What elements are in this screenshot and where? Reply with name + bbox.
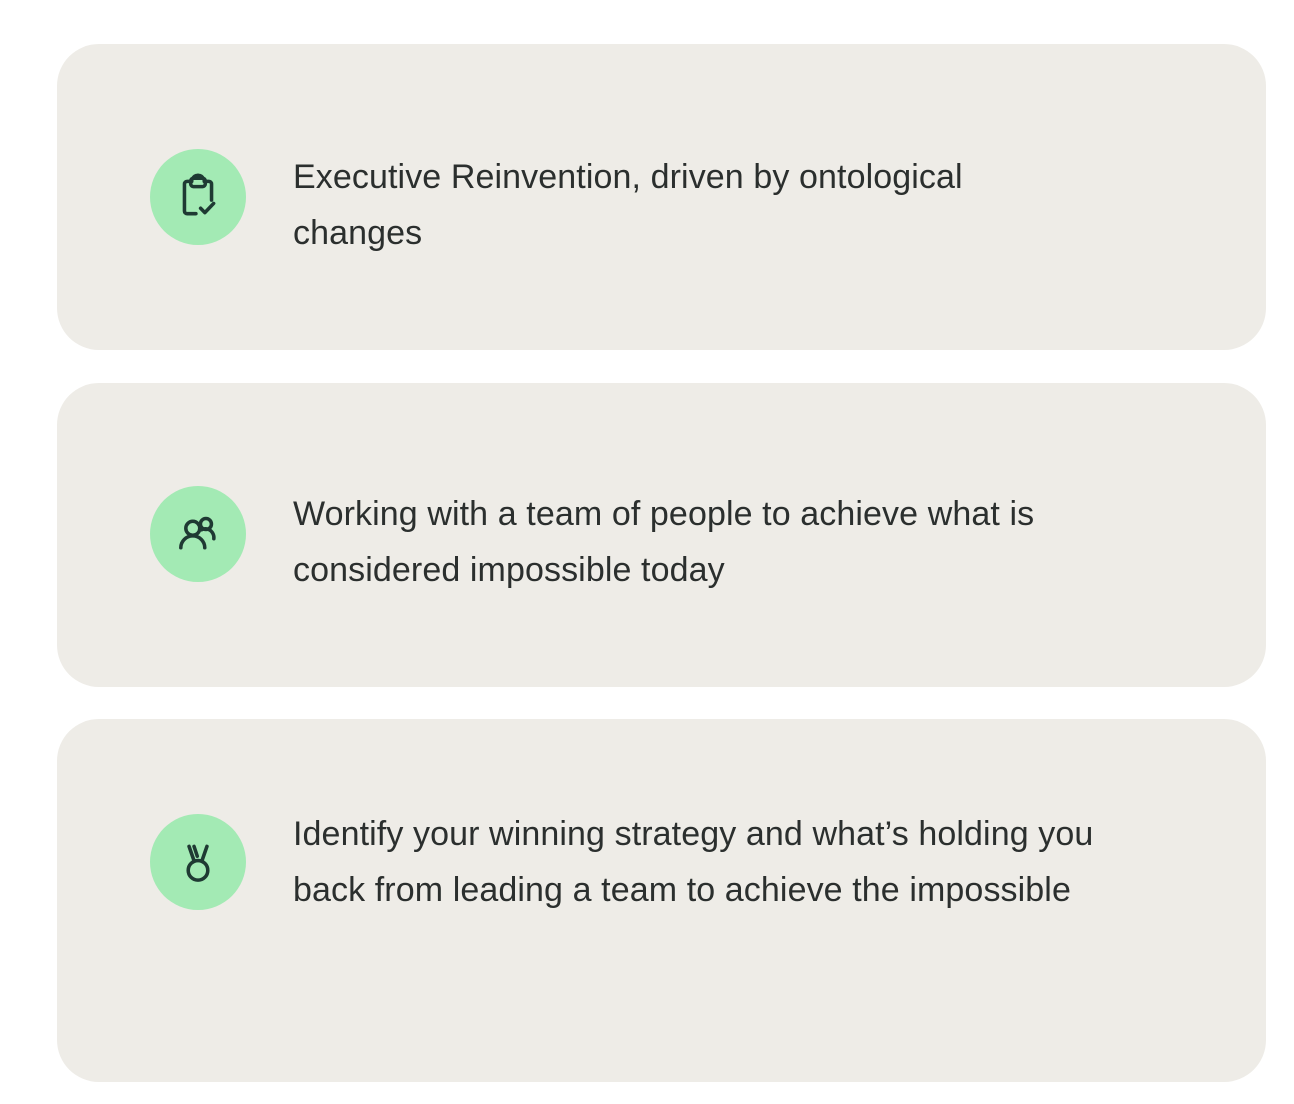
- clipboard-check-icon-badge: [150, 149, 246, 245]
- medal-icon: [173, 837, 223, 887]
- feature-cards-list: Executive Reinvention, driven by ontolog…: [0, 0, 1294, 1104]
- feature-card-content: Executive Reinvention, driven by ontolog…: [150, 149, 1226, 261]
- feature-card-content: Working with a team of people to achieve…: [150, 486, 1226, 598]
- feature-card: Working with a team of people to achieve…: [57, 383, 1266, 687]
- clipboard-check-icon: [173, 172, 223, 222]
- users-two-people-icon-badge: [150, 486, 246, 582]
- users-two-people-icon: [173, 509, 223, 559]
- feature-card: Executive Reinvention, driven by ontolog…: [57, 44, 1266, 350]
- feature-card-text: Working with a team of people to achieve…: [293, 486, 1143, 598]
- feature-card-content: Identify your winning strategy and what’…: [150, 806, 1226, 918]
- feature-card-text: Executive Reinvention, driven by ontolog…: [293, 149, 1053, 261]
- feature-card-text: Identify your winning strategy and what’…: [293, 806, 1143, 918]
- medal-icon-badge: [150, 814, 246, 910]
- feature-card: Identify your winning strategy and what’…: [57, 719, 1266, 1082]
